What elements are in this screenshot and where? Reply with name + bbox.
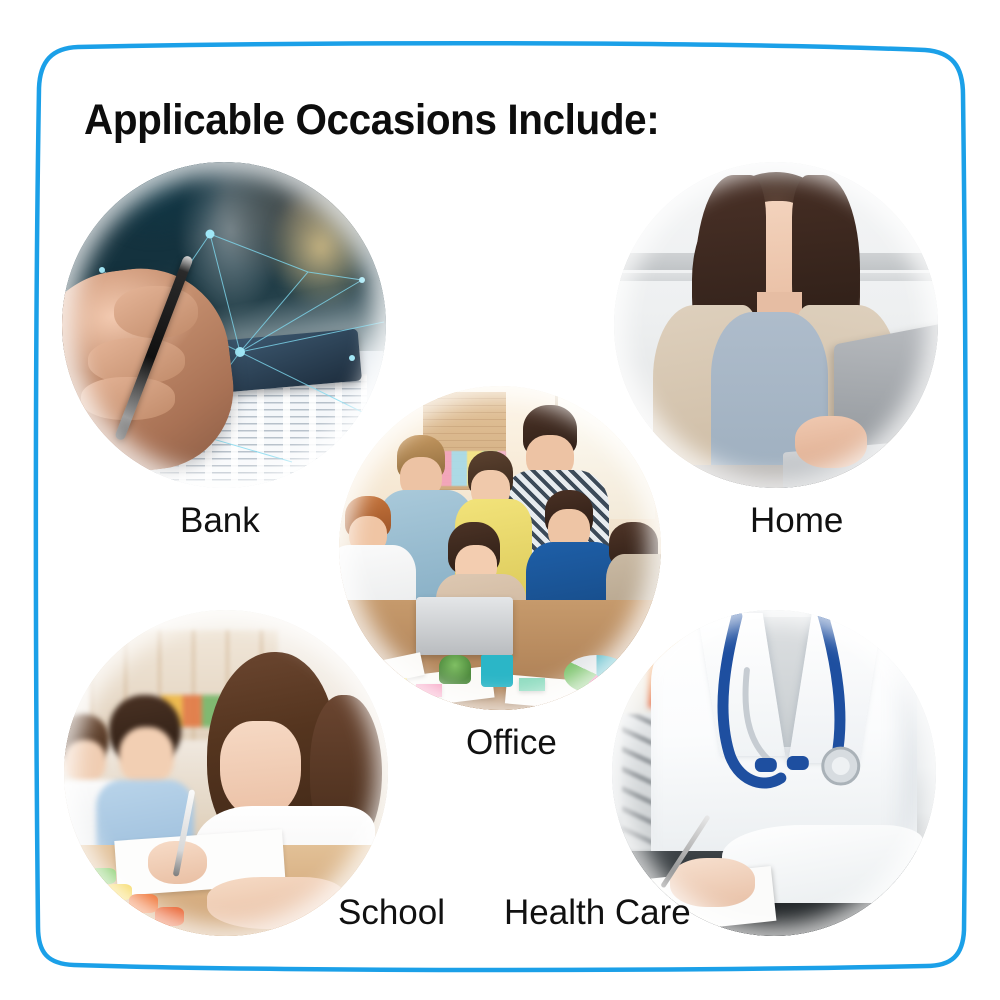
occasion-label-home: Home — [750, 501, 843, 541]
promo-banner: Applicable Occasions Include: — [0, 0, 1000, 1000]
page-title: Applicable Occasions Include: — [84, 96, 659, 145]
occasion-label-school: School — [338, 893, 445, 933]
occasion-image-bank — [62, 162, 386, 488]
occasion-image-health-care — [612, 610, 936, 936]
occasion-label-bank: Bank — [180, 501, 260, 541]
occasion-image-home — [614, 162, 938, 488]
occasion-label-office: Office — [466, 723, 557, 763]
occasion-image-school — [64, 610, 388, 936]
occasion-label-health-care: Health Care — [504, 893, 691, 933]
